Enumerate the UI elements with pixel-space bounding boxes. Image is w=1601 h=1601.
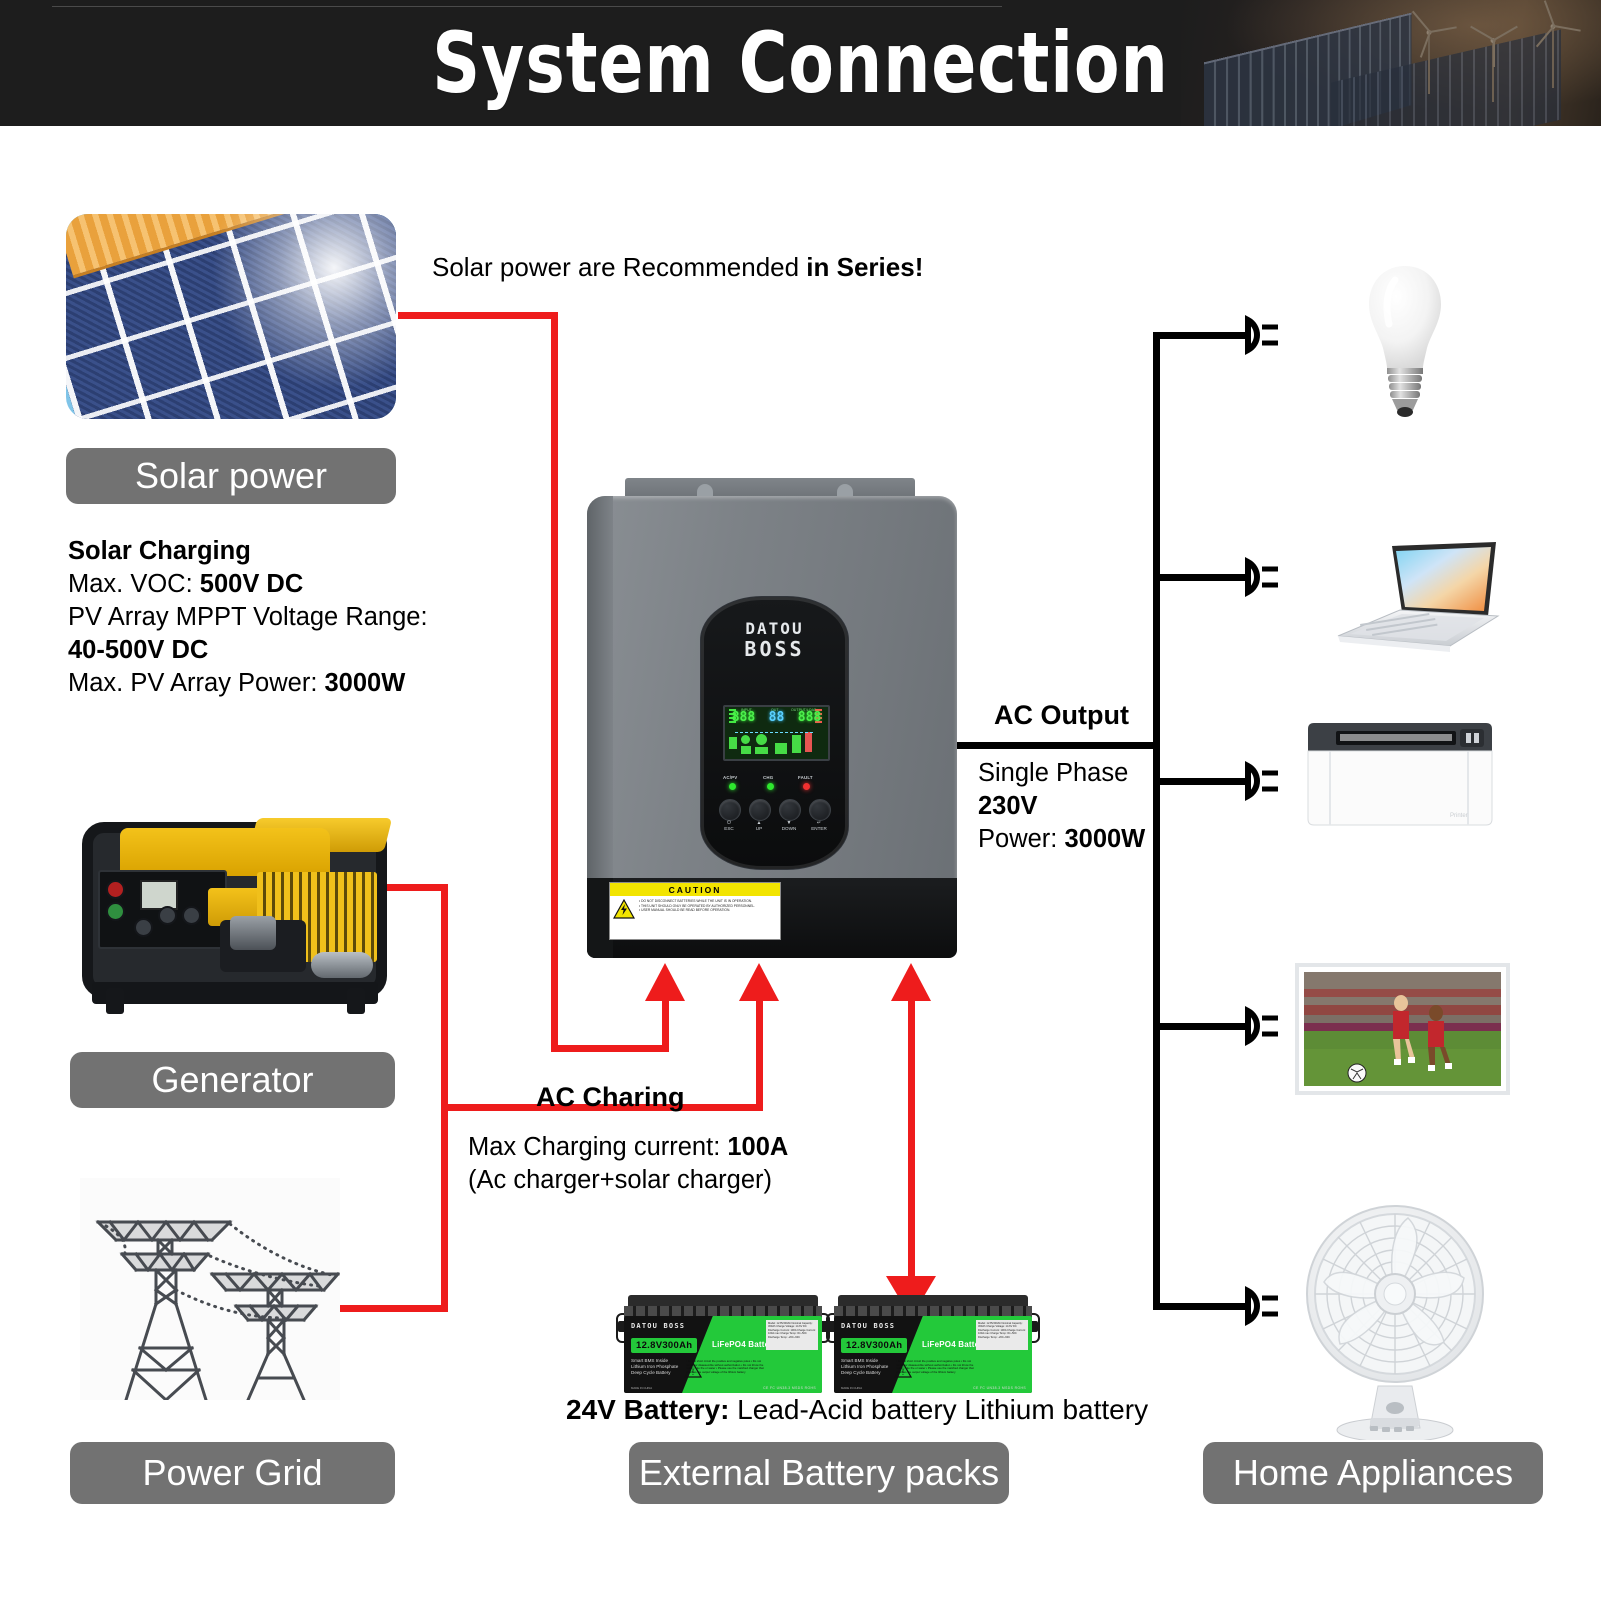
button-enter[interactable] bbox=[809, 799, 831, 821]
battery-note-plain: Lead-Acid battery Lithium battery bbox=[729, 1394, 1148, 1425]
caution-line-2: • USER MANUAL SHOULD BE READ BEFORE OPER… bbox=[639, 908, 777, 913]
solar-charging-spec: Solar Charging Max. VOC: 500V DC PV Arra… bbox=[68, 535, 428, 700]
electric-fan-image bbox=[1300, 1190, 1490, 1440]
solar-series-note-bold: in Series! bbox=[806, 252, 923, 282]
battery-origin: MADE IN CHINA bbox=[841, 1386, 862, 1390]
power-plug-icon bbox=[1236, 1283, 1282, 1329]
television-image bbox=[1295, 963, 1510, 1095]
ac-output-details: Single Phase 230V Power: 3000W bbox=[978, 757, 1145, 856]
button-up[interactable] bbox=[749, 799, 771, 821]
button-esc-label: ESC bbox=[716, 826, 742, 831]
caution-text: • DO NOT DISCONNECT BATTERIES WHILE THE … bbox=[639, 899, 777, 919]
label-external-battery-packs-text: External Battery packs bbox=[639, 1452, 999, 1494]
inverter-control-panel: DATOU BOSS INPUT OUT OUTPUT/LOAD 888 88 … bbox=[700, 596, 849, 870]
page-title: System Connection bbox=[96, 0, 1505, 126]
light-bulb-image bbox=[1365, 262, 1445, 422]
solar-spec-line-3: Max. PV Array Power: 3000W bbox=[68, 667, 428, 700]
solar-panel-photo bbox=[66, 214, 396, 419]
inverter-lcd-display: INPUT OUT OUTPUT/LOAD 888 88 888 bbox=[723, 705, 830, 761]
lcd-flow-diagram bbox=[729, 729, 824, 756]
button-down-label: DOWN bbox=[776, 826, 802, 831]
label-power-grid: Power Grid bbox=[70, 1442, 395, 1504]
wire-generator-v1 bbox=[441, 884, 448, 1111]
power-plug-icon bbox=[1236, 554, 1282, 600]
warning-triangle-icon bbox=[613, 899, 635, 919]
solar-spec-line-0: Max. VOC: 500V DC bbox=[68, 568, 428, 601]
solar-series-note-plain: Solar power are Recommended bbox=[432, 252, 806, 282]
led-label-ac-pv: AC/PV bbox=[723, 775, 737, 780]
led-label-chg: CHG bbox=[763, 775, 773, 780]
wire-generator-v2 bbox=[756, 1000, 763, 1111]
ac-charging-details: Max Charging current: 100A (Ac charger+s… bbox=[468, 1131, 788, 1197]
lcd-mid-digits: 88 bbox=[769, 710, 785, 725]
battery-warning-text: • Do not short circuit the positive and … bbox=[896, 1360, 976, 1374]
button-enter-label: ENTER bbox=[806, 826, 832, 831]
battery-spec-table: Model: 12.8V300Ah Nominal Capacity: 300A… bbox=[766, 1320, 818, 1350]
ac-output-title: AC Output bbox=[994, 700, 1129, 731]
label-home-appliances-text: Home Appliances bbox=[1233, 1452, 1513, 1494]
arrow-solar-to-inverter bbox=[645, 963, 685, 1005]
transmission-towers-svg bbox=[80, 1178, 340, 1400]
ac-output-line-3: Power: 3000W bbox=[978, 823, 1145, 856]
wire-ac-branch-bulb bbox=[1153, 332, 1248, 339]
label-solar-power: Solar power bbox=[66, 448, 396, 504]
wire-grid-v1 bbox=[441, 1104, 448, 1312]
inverter-brand-logo: DATOU BOSS bbox=[701, 619, 848, 659]
inverter-unit: DATOU BOSS INPUT OUT OUTPUT/LOAD 888 88 … bbox=[587, 478, 957, 958]
inverter-chassis-side bbox=[587, 496, 613, 896]
button-up-label: UP bbox=[746, 826, 772, 831]
ac-charging-line-1: Max Charging current: 100A bbox=[468, 1131, 788, 1164]
battery-brand: DATOU BOSS bbox=[841, 1322, 895, 1330]
arrow-ac-to-inverter bbox=[739, 963, 779, 1005]
battery-brand: DATOU BOSS bbox=[631, 1322, 685, 1330]
label-generator-text: Generator bbox=[151, 1059, 313, 1101]
solar-charging-title: Solar Charging bbox=[68, 535, 428, 568]
battery-certifications: CE FC UN38.3 MSDS ROHS bbox=[973, 1386, 1026, 1390]
wire-battery-v bbox=[908, 1000, 915, 1290]
solar-spec-line-1: PV Array MPPT Voltage Range: bbox=[68, 601, 428, 634]
battery-pack: DATOU BOSS 12.8V300Ah LiFePO4 Battery Sm… bbox=[620, 1295, 826, 1395]
wire-ac-bus-v bbox=[1153, 332, 1160, 1310]
battery-capacity: 12.8V300Ah bbox=[841, 1338, 907, 1353]
generator-base bbox=[92, 982, 378, 1004]
generator-muffler bbox=[311, 952, 373, 978]
led-fault bbox=[803, 783, 810, 790]
battery-pack: DATOU BOSS 12.8V300Ah LiFePO4 Battery Sm… bbox=[830, 1295, 1036, 1395]
battery-note-bold: 24V Battery: bbox=[566, 1394, 729, 1425]
button-esc[interactable] bbox=[719, 799, 741, 821]
wire-solar-h1 bbox=[398, 312, 558, 319]
label-solar-power-text: Solar power bbox=[135, 455, 327, 497]
ac-output-line-2: 230V bbox=[978, 790, 1145, 823]
wire-solar-v1 bbox=[551, 312, 558, 1052]
brand-line-2: BOSS bbox=[701, 639, 848, 659]
battery-features: Smart BMS Inside Lithium Iron Phosphate … bbox=[631, 1358, 678, 1376]
wire-ac-branch-tv bbox=[1153, 1023, 1248, 1030]
system-connection-diagram: System Connection bbox=[0, 0, 1601, 1601]
generator-photo bbox=[78, 812, 393, 1012]
battery-features: Smart BMS Inside Lithium Iron Phosphate … bbox=[841, 1358, 888, 1376]
wire-solar-h2 bbox=[551, 1045, 669, 1052]
generator-fuel-tank bbox=[120, 828, 330, 876]
led-label-fault: FAULT bbox=[798, 775, 813, 780]
label-external-battery-packs: External Battery packs bbox=[629, 1442, 1009, 1504]
power-plug-icon bbox=[1236, 758, 1282, 804]
wire-ac-branch-printer bbox=[1153, 778, 1248, 785]
lcd-right-digits: 888 bbox=[798, 710, 821, 725]
header-banner: System Connection bbox=[0, 0, 1601, 126]
solar-series-note: Solar power are Recommended in Series! bbox=[432, 252, 923, 283]
caution-title: CAUTION bbox=[610, 883, 780, 896]
label-home-appliances: Home Appliances bbox=[1203, 1442, 1543, 1504]
battery-note: 24V Battery: Lead-Acid battery Lithium b… bbox=[566, 1394, 1148, 1426]
caution-label: CAUTION • DO NOT DISCONNECT BATTERIES WH… bbox=[609, 882, 781, 940]
led-chg bbox=[767, 783, 774, 790]
wind-turbine-icon-3 bbox=[1533, 0, 1573, 90]
battery-certifications: CE FC UN38.3 MSDS ROHS bbox=[763, 1386, 816, 1390]
generator-alternator bbox=[230, 916, 276, 950]
power-plug-icon bbox=[1236, 1003, 1282, 1049]
wire-ac-branch-laptop bbox=[1153, 574, 1248, 581]
power-grid-illustration bbox=[80, 1178, 340, 1400]
led-ac-pv bbox=[729, 783, 736, 790]
label-power-grid-text: Power Grid bbox=[142, 1452, 322, 1494]
battery-warning-text: • Do not short circuit the positive and … bbox=[686, 1360, 766, 1374]
lcd-left-digits: 888 bbox=[732, 710, 755, 725]
ac-charging-line-2: (Ac charger+solar charger) bbox=[468, 1164, 788, 1197]
battery-spec-table: Model: 12.8V300Ah Nominal Capacity: 300A… bbox=[976, 1320, 1028, 1350]
battery-origin: MADE IN CHINA bbox=[631, 1386, 652, 1390]
battery-capacity: 12.8V300Ah bbox=[631, 1338, 697, 1353]
printer-image: Printer bbox=[1300, 705, 1500, 830]
solar-spec-line-2: 40-500V DC bbox=[68, 634, 428, 667]
power-plug-icon bbox=[1236, 312, 1282, 358]
arrow-battery-up bbox=[891, 963, 931, 1005]
ac-output-line-1: Single Phase bbox=[978, 757, 1145, 790]
wire-solar-v2 bbox=[662, 1000, 669, 1052]
brand-line-1: DATOU bbox=[701, 619, 848, 639]
wire-ac-out-h bbox=[957, 742, 1160, 749]
sun-glare bbox=[196, 214, 396, 394]
button-down[interactable] bbox=[779, 799, 801, 821]
wire-ac-branch-fan bbox=[1153, 1303, 1248, 1310]
laptop-image bbox=[1330, 540, 1500, 670]
ac-charging-title: AC Charing bbox=[536, 1082, 685, 1113]
svg-text:Printer: Printer bbox=[1450, 813, 1468, 819]
label-generator: Generator bbox=[70, 1052, 395, 1108]
